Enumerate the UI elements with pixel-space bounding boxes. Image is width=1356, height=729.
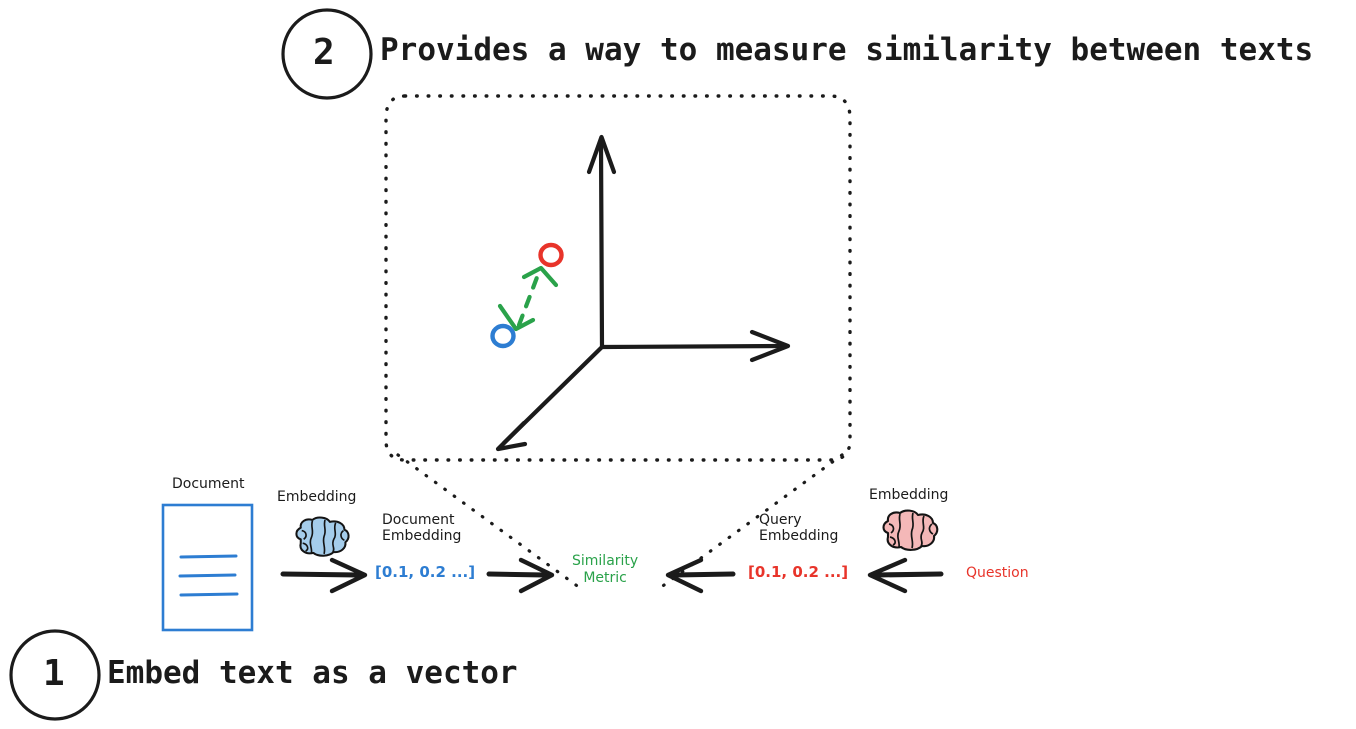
similarity-distance-connector: [500, 268, 556, 329]
document-vector-value: [0.1, 0.2 ...]: [375, 563, 475, 581]
arrow-document-to-embedding: [283, 560, 365, 591]
axis-z: [498, 347, 602, 449]
document-embedding-label-line1: Document: [382, 512, 461, 528]
similarity-metric-line1: Similarity: [572, 553, 638, 570]
query-embedding-label-line1: Query: [759, 512, 838, 528]
document-point-marker: [493, 326, 514, 346]
diagram-graphics: .ink { stroke:#1b1b1b; fill:none; stroke…: [0, 0, 1356, 729]
document-embedding-label-line2: Embedding: [382, 528, 461, 544]
document-label: Document: [172, 476, 245, 492]
brain-icon-document: [296, 518, 348, 556]
brain-icon-query: [884, 511, 938, 550]
query-vector-value: [0.1, 0.2 ...]: [748, 563, 848, 581]
query-embedding-label: Query Embedding: [759, 512, 838, 544]
document-embedding-label: Document Embedding: [382, 512, 461, 544]
similarity-metric-label: Similarity Metric: [572, 553, 638, 587]
document-icon: [163, 505, 252, 630]
step-1-label: Embed text as a vector: [107, 655, 518, 691]
query-embedding-label-line2: Embedding: [759, 528, 838, 544]
diagram-canvas: .ink { stroke:#1b1b1b; fill:none; stroke…: [0, 0, 1356, 729]
axis-x: [602, 332, 788, 360]
embedding-label-document-side: Embedding: [277, 489, 356, 505]
similarity-metric-line2: Metric: [572, 570, 638, 587]
vector-space-frame: [386, 96, 850, 460]
embedding-label-query-side: Embedding: [869, 487, 948, 503]
arrow-query-embedding-to-similarity: [668, 560, 733, 591]
axis-y: [589, 137, 614, 347]
query-point-marker: [541, 245, 562, 265]
step-2-label: Provides a way to measure similarity bet…: [380, 32, 1313, 68]
step-1-number: 1: [43, 653, 65, 694]
question-label: Question: [966, 565, 1029, 581]
step-2-number: 2: [313, 32, 335, 73]
arrow-question-to-embedding: [870, 560, 941, 591]
arrow-embedding-to-similarity: [489, 560, 552, 591]
